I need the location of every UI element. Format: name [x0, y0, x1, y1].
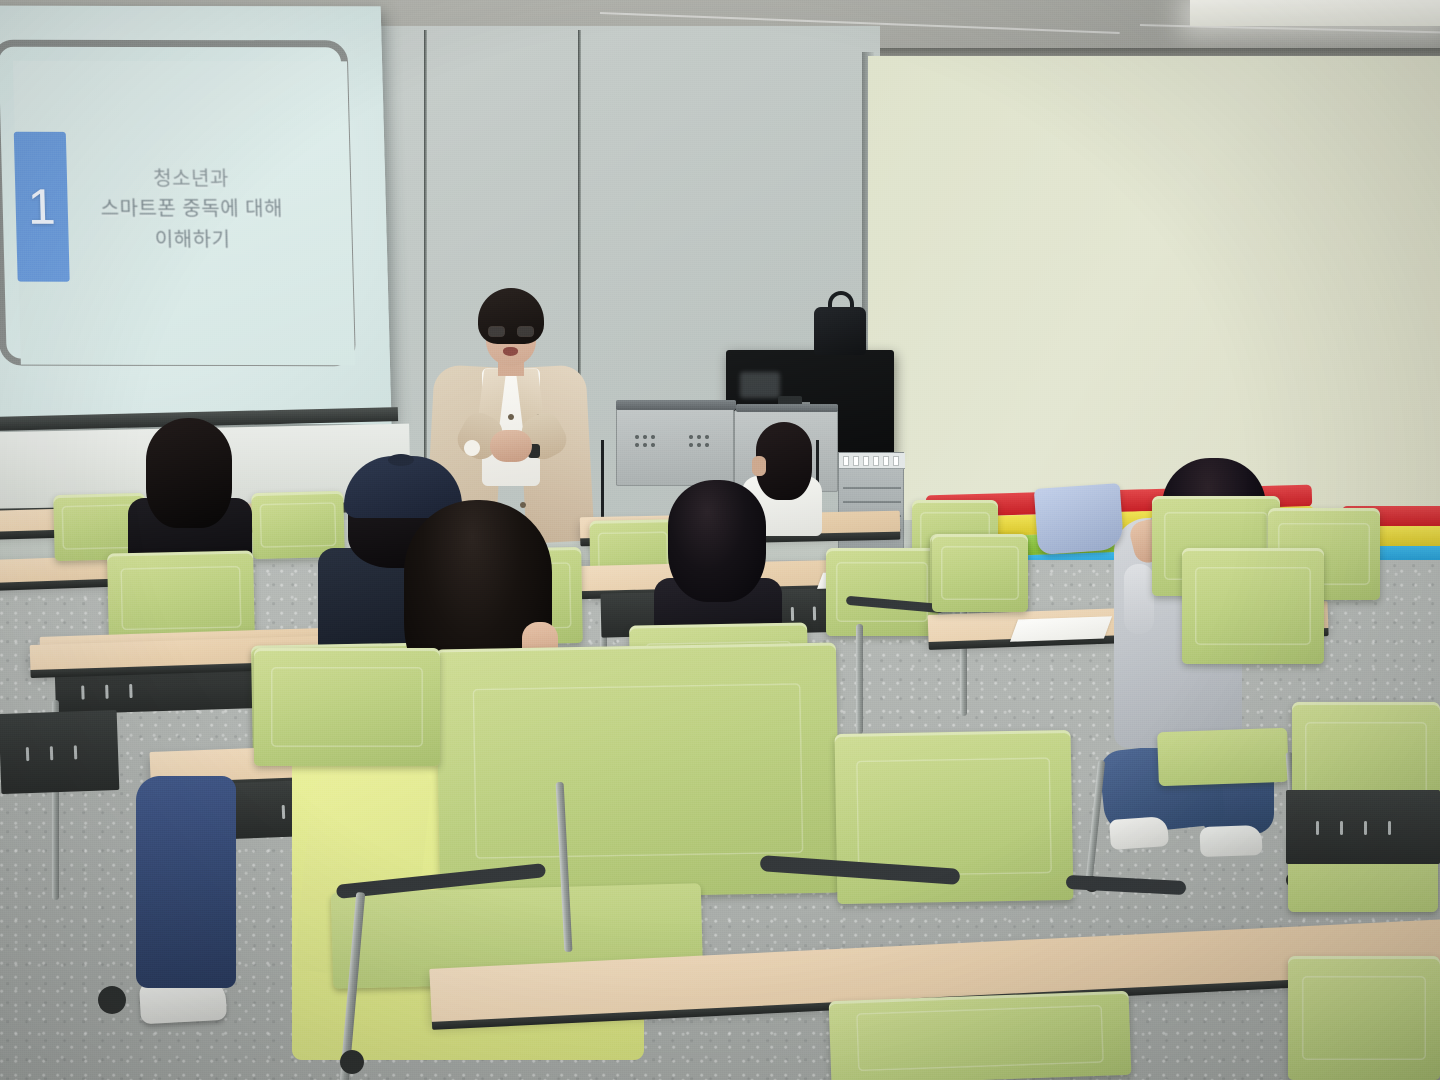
rack-switch-panel — [839, 453, 905, 469]
cabinet-top-edge — [616, 400, 736, 410]
slide-number-badge: 1 — [14, 132, 70, 282]
chair-row-4-left — [254, 648, 440, 766]
attendee-sleeve — [1124, 564, 1154, 634]
av-equipment-rack — [838, 452, 904, 562]
classroom-photo-scene: 1 청소년과 스마트폰 중독에 대해 이해하기 — [0, 0, 1440, 1080]
blue-jacket-draped — [1034, 483, 1124, 555]
attendee-hair — [668, 480, 766, 602]
attendee-jeans-leg — [136, 776, 236, 988]
slide-title-text: 청소년과 스마트폰 중독에 대해 이해하기 — [75, 164, 309, 256]
cabinet-vent-holes — [689, 435, 709, 447]
projection-screen: 1 청소년과 스마트폰 중독에 대해 이해하기 — [0, 6, 392, 425]
attendee-shoe-right — [1199, 825, 1262, 857]
desk-modesty-panel-right-edge — [1286, 790, 1440, 864]
black-bag-on-monitor — [814, 307, 866, 355]
chair-leg — [856, 624, 863, 734]
chair-caster — [98, 986, 126, 1014]
chair-grey-hoodie — [1182, 548, 1324, 664]
slide-title-line-2: 스마트폰 중독에 대해 — [75, 194, 308, 225]
attendee-shoe-left — [1109, 816, 1169, 850]
chair-foreground-bottom-right — [1288, 956, 1440, 1080]
jacket-button — [508, 414, 514, 420]
chair-row-2-center-right — [826, 548, 938, 636]
chair-caster — [340, 1050, 364, 1074]
attendee-back-left-black-top — [118, 416, 258, 566]
slide-title-line-1: 청소년과 — [75, 164, 308, 195]
chair-behind-blue-jacket — [932, 534, 1028, 612]
presenter-mouth — [503, 347, 518, 356]
eyeglasses-icon — [488, 326, 534, 337]
attendee-hair — [146, 418, 232, 528]
cap-button — [388, 454, 414, 466]
attendee-ear-side — [752, 456, 766, 476]
chair-foreground-bottom — [829, 991, 1132, 1080]
desk-modesty-panel-left-edge — [0, 710, 119, 794]
chair-seat-grey-hoodie — [1157, 728, 1289, 787]
ceiling-light-fixture — [1190, 0, 1440, 26]
slide-title-line-3: 이해하기 — [76, 225, 309, 256]
cabinet-top-edge — [736, 404, 838, 412]
equipment-cabinet-left — [616, 406, 734, 486]
cabinet-vent-holes — [635, 435, 655, 447]
monitor-reflection — [740, 372, 780, 398]
